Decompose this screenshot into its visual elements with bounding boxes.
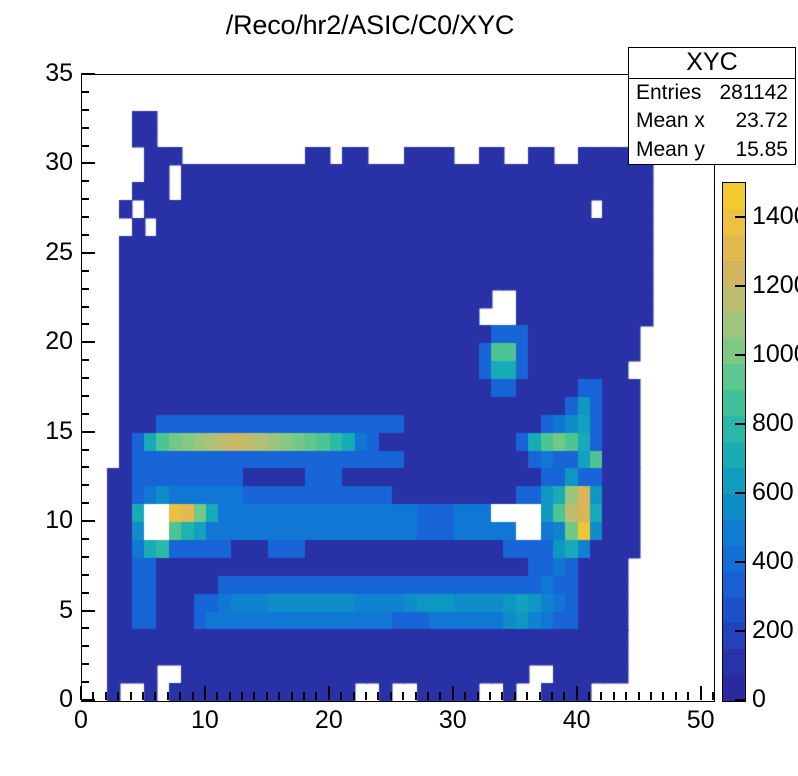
colorbar-tick [735, 285, 746, 287]
stats-value-entries: 281142 [719, 81, 788, 105]
colorbar-tick [735, 354, 746, 356]
colorbar-tick [735, 423, 746, 425]
colorbar-tick [735, 216, 746, 218]
colorbar-tick-label: 1000 [752, 340, 798, 369]
colorbar-tick-label: 800 [752, 409, 794, 438]
stats-key-mean-y: Mean y [636, 138, 705, 162]
stats-value-mean-x: 23.72 [735, 109, 788, 133]
stats-key-mean-x: Mean x [636, 109, 705, 133]
colorbar-tick-label: 400 [752, 547, 794, 576]
stats-key-entries: Entries [636, 81, 701, 105]
stats-row-mean-x: Mean x 23.72 [629, 107, 795, 135]
colorbar-tick [735, 561, 746, 563]
colorbar-tick-label: 600 [752, 478, 794, 507]
stats-title: XYC [629, 48, 795, 79]
statistics-box[interactable]: XYC Entries 281142 Mean x 23.72 Mean y 1… [628, 47, 796, 165]
root-canvas: /Reco/hr2/ASIC/C0/XYC 05101520253035 010… [0, 0, 798, 776]
stats-value-mean-y: 15.85 [735, 138, 788, 162]
colorbar-tick [735, 492, 746, 494]
colorbar-tick-label: 1200 [752, 271, 798, 300]
colorbar-tick [735, 699, 746, 701]
stats-row-mean-y: Mean y 15.85 [629, 136, 795, 164]
colorbar-tick-label: 200 [752, 616, 794, 645]
colorbar-tick [735, 630, 746, 632]
stats-row-entries: Entries 281142 [629, 79, 795, 107]
colorbar-tick-label: 0 [752, 685, 766, 714]
colorbar-tick-label: 1400 [752, 202, 798, 231]
